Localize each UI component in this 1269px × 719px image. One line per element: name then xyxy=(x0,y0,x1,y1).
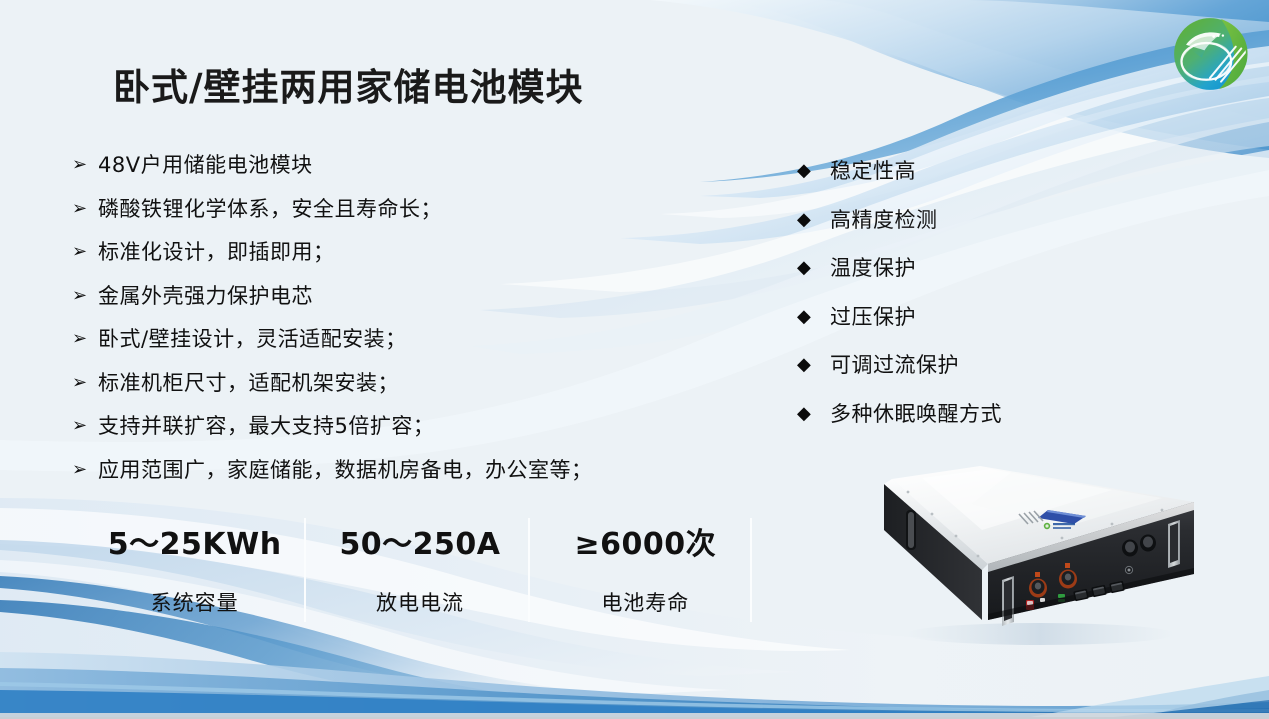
diamond-bullet-icon: ◆ xyxy=(797,207,830,233)
list-item-label: 金属外壳强力保护电芯 xyxy=(98,283,313,309)
list-item: ➢ 磷酸铁锂化学体系，安全且寿命长； xyxy=(72,196,722,222)
list-item-label: 48V户用储能电池模块 xyxy=(98,152,313,178)
list-item-label: 稳定性高 xyxy=(830,158,916,184)
list-item-label: 磷酸铁锂化学体系，安全且寿命长； xyxy=(98,196,442,222)
list-item-label: 标准机柜尺寸，适配机架安装； xyxy=(98,370,399,396)
list-item: ◆ 可调过流保护 xyxy=(797,352,1127,378)
diamond-bullet-icon: ◆ xyxy=(797,255,830,281)
list-item-label: 多种休眠唤醒方式 xyxy=(830,401,1002,427)
list-item: ◆ 过压保护 xyxy=(797,304,1127,330)
stat-cycle-life: ≥6000次 电池寿命 xyxy=(533,518,758,622)
arrow-bullet-icon: ➢ xyxy=(72,152,98,178)
list-item: ◆ 温度保护 xyxy=(797,255,1127,281)
arrow-bullet-icon: ➢ xyxy=(72,457,98,483)
list-item: ◆ 多种休眠唤醒方式 xyxy=(797,401,1127,427)
arrow-bullet-icon: ➢ xyxy=(72,283,98,309)
list-item: ➢ 标准化设计，即插即用； xyxy=(72,239,722,265)
arrow-bullet-icon: ➢ xyxy=(72,239,98,265)
list-item: ➢ 卧式/壁挂设计，灵活适配安装； xyxy=(72,326,722,352)
battery-module-photo xyxy=(862,452,1202,652)
page-title: 卧式/壁挂两用家储电池模块 xyxy=(113,57,584,111)
list-item: ◆ 稳定性高 xyxy=(797,158,1127,184)
arrow-bullet-icon: ➢ xyxy=(72,413,98,439)
list-item-label: 卧式/壁挂设计，灵活适配安装； xyxy=(98,326,407,352)
stat-discharge-current: 50〜250A 放电电流 xyxy=(307,518,532,622)
list-item-label: 可调过流保护 xyxy=(830,352,959,378)
list-item-label: 标准化设计，即插即用； xyxy=(98,239,335,265)
diamond-bullet-icon: ◆ xyxy=(797,158,830,184)
stat-value: 50〜250A xyxy=(307,528,532,562)
list-item: ➢ 标准机柜尺寸，适配机架安装； xyxy=(72,370,722,396)
company-logo-icon xyxy=(1164,8,1256,100)
diamond-bullet-icon: ◆ xyxy=(797,304,830,330)
arrow-bullet-icon: ➢ xyxy=(72,196,98,222)
list-item: ➢ 应用范围广，家庭储能，数据机房备电，办公室等； xyxy=(72,457,722,483)
list-item: ➢ 金属外壳强力保护电芯 xyxy=(72,283,722,309)
stat-capacity: 5〜25KWh 系统容量 xyxy=(82,518,307,622)
stat-label: 电池寿命 xyxy=(533,590,758,616)
list-item-label: 应用范围广，家庭储能，数据机房备电，办公室等； xyxy=(98,457,593,483)
features-left-list: ➢ 48V户用储能电池模块 ➢ 磷酸铁锂化学体系，安全且寿命长； ➢ 标准化设计… xyxy=(72,152,722,500)
list-item: ➢ 48V户用储能电池模块 xyxy=(72,152,722,178)
diamond-bullet-icon: ◆ xyxy=(797,401,830,427)
list-item-label: 温度保护 xyxy=(830,255,916,281)
list-item: ◆ 高精度检测 xyxy=(797,207,1127,233)
list-item-label: 支持并联扩容，最大支持5倍扩容； xyxy=(98,413,434,439)
diamond-bullet-icon: ◆ xyxy=(797,352,830,378)
list-item-label: 过压保护 xyxy=(830,304,916,330)
stat-label: 系统容量 xyxy=(82,590,307,616)
list-item: ➢ 支持并联扩容，最大支持5倍扩容； xyxy=(72,413,722,439)
arrow-bullet-icon: ➢ xyxy=(72,326,98,352)
arrow-bullet-icon: ➢ xyxy=(72,370,98,396)
features-right-list: ◆ 稳定性高 ◆ 高精度检测 ◆ 温度保护 ◆ 过压保护 ◆ 可调过流保护 ◆ … xyxy=(797,158,1127,449)
stat-value: ≥6000次 xyxy=(533,528,758,562)
stat-label: 放电电流 xyxy=(307,590,532,616)
spec-highlights: 5〜25KWh 系统容量 50〜250A 放电电流 ≥6000次 电池寿命 xyxy=(82,518,758,622)
stat-value: 5〜25KWh xyxy=(82,528,307,562)
list-item-label: 高精度检测 xyxy=(830,207,938,233)
slide-canvas: 卧式/壁挂两用家储电池模块 ➢ 48V户用储能电池模块 ➢ 磷酸铁锂化学体系，安… xyxy=(0,0,1269,719)
